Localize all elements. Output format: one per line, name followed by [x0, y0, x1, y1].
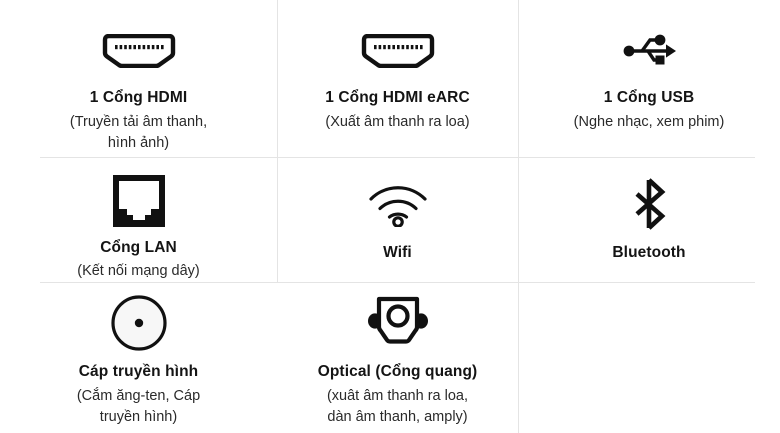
- port-subtitle-line-1: (xuât âm thanh ra loa,: [327, 386, 468, 407]
- port-subtitle: (Nghe nhạc, xem phim): [574, 112, 725, 133]
- port-cell-coaxial[interactable]: Cáp truyền hình (Cắm ăng-ten, Cáp truyền…: [0, 282, 277, 433]
- port-cell-empty: [518, 282, 780, 433]
- port-subtitle-line-1: (Xuất âm thanh ra loa): [325, 112, 469, 133]
- grid-divider-vertical-2: [518, 0, 519, 433]
- port-subtitle-line-2: hình ảnh): [70, 133, 207, 154]
- lan-port-icon: [113, 175, 165, 228]
- grid-divider-horizontal-1: [40, 157, 755, 158]
- port-title: Bluetooth: [612, 243, 685, 264]
- coaxial-cable-icon: [109, 292, 169, 354]
- port-title: Wifi: [383, 243, 412, 264]
- hdmi-earc-port-icon: [360, 20, 436, 82]
- port-cell-optical[interactable]: Optical (Cổng quang) (xuât âm thanh ra l…: [277, 282, 518, 433]
- port-subtitle-line-1: (Nghe nhạc, xem phim): [574, 112, 725, 133]
- ports-grid: 1 Cổng HDMI (Truyền tải âm thanh, hình ả…: [0, 0, 780, 433]
- port-title: Cáp truyền hình: [79, 362, 198, 383]
- port-title: Cổng LAN: [100, 238, 177, 259]
- optical-port-icon: [366, 292, 430, 354]
- bluetooth-icon: [632, 175, 666, 233]
- port-subtitle-line-1: (Truyền tải âm thanh,: [70, 112, 207, 133]
- port-subtitle: (Kết nối mạng dây): [77, 261, 200, 282]
- port-title: 1 Cổng HDMI: [90, 88, 188, 109]
- port-title: Optical (Cổng quang): [318, 362, 478, 383]
- port-cell-bluetooth[interactable]: Bluetooth: [518, 157, 780, 282]
- connectivity-ports-panel: 1 Cổng HDMI (Truyền tải âm thanh, hình ả…: [0, 0, 780, 433]
- port-subtitle-line-1: (Kết nối mạng dây): [77, 261, 200, 282]
- port-subtitle-line-2: truyền hình): [77, 407, 200, 428]
- grid-divider-vertical-1: [277, 0, 278, 282]
- port-subtitle: (Truyền tải âm thanh, hình ảnh): [70, 112, 207, 153]
- port-cell-lan[interactable]: Cổng LAN (Kết nối mạng dây): [0, 157, 277, 282]
- port-cell-usb[interactable]: 1 Cổng USB (Nghe nhạc, xem phim): [518, 0, 780, 157]
- port-subtitle: (Xuất âm thanh ra loa): [325, 112, 469, 133]
- wifi-icon: [367, 175, 429, 233]
- port-cell-wifi[interactable]: Wifi: [277, 157, 518, 282]
- port-cell-hdmi[interactable]: 1 Cổng HDMI (Truyền tải âm thanh, hình ả…: [0, 0, 277, 157]
- port-subtitle-line-1: (Cắm ăng-ten, Cáp: [77, 386, 200, 407]
- port-subtitle: (xuât âm thanh ra loa, dàn âm thanh, amp…: [327, 386, 468, 427]
- grid-divider-horizontal-2: [40, 282, 755, 283]
- port-title: 1 Cổng HDMI eARC: [325, 88, 470, 109]
- port-cell-hdmi-earc[interactable]: 1 Cổng HDMI eARC (Xuất âm thanh ra loa): [277, 0, 518, 157]
- port-title: 1 Cổng USB: [604, 88, 695, 109]
- port-subtitle: (Cắm ăng-ten, Cáp truyền hình): [77, 386, 200, 427]
- hdmi-port-icon: [101, 20, 177, 82]
- usb-icon: [620, 20, 678, 82]
- port-subtitle-line-2: dàn âm thanh, amply): [327, 407, 468, 428]
